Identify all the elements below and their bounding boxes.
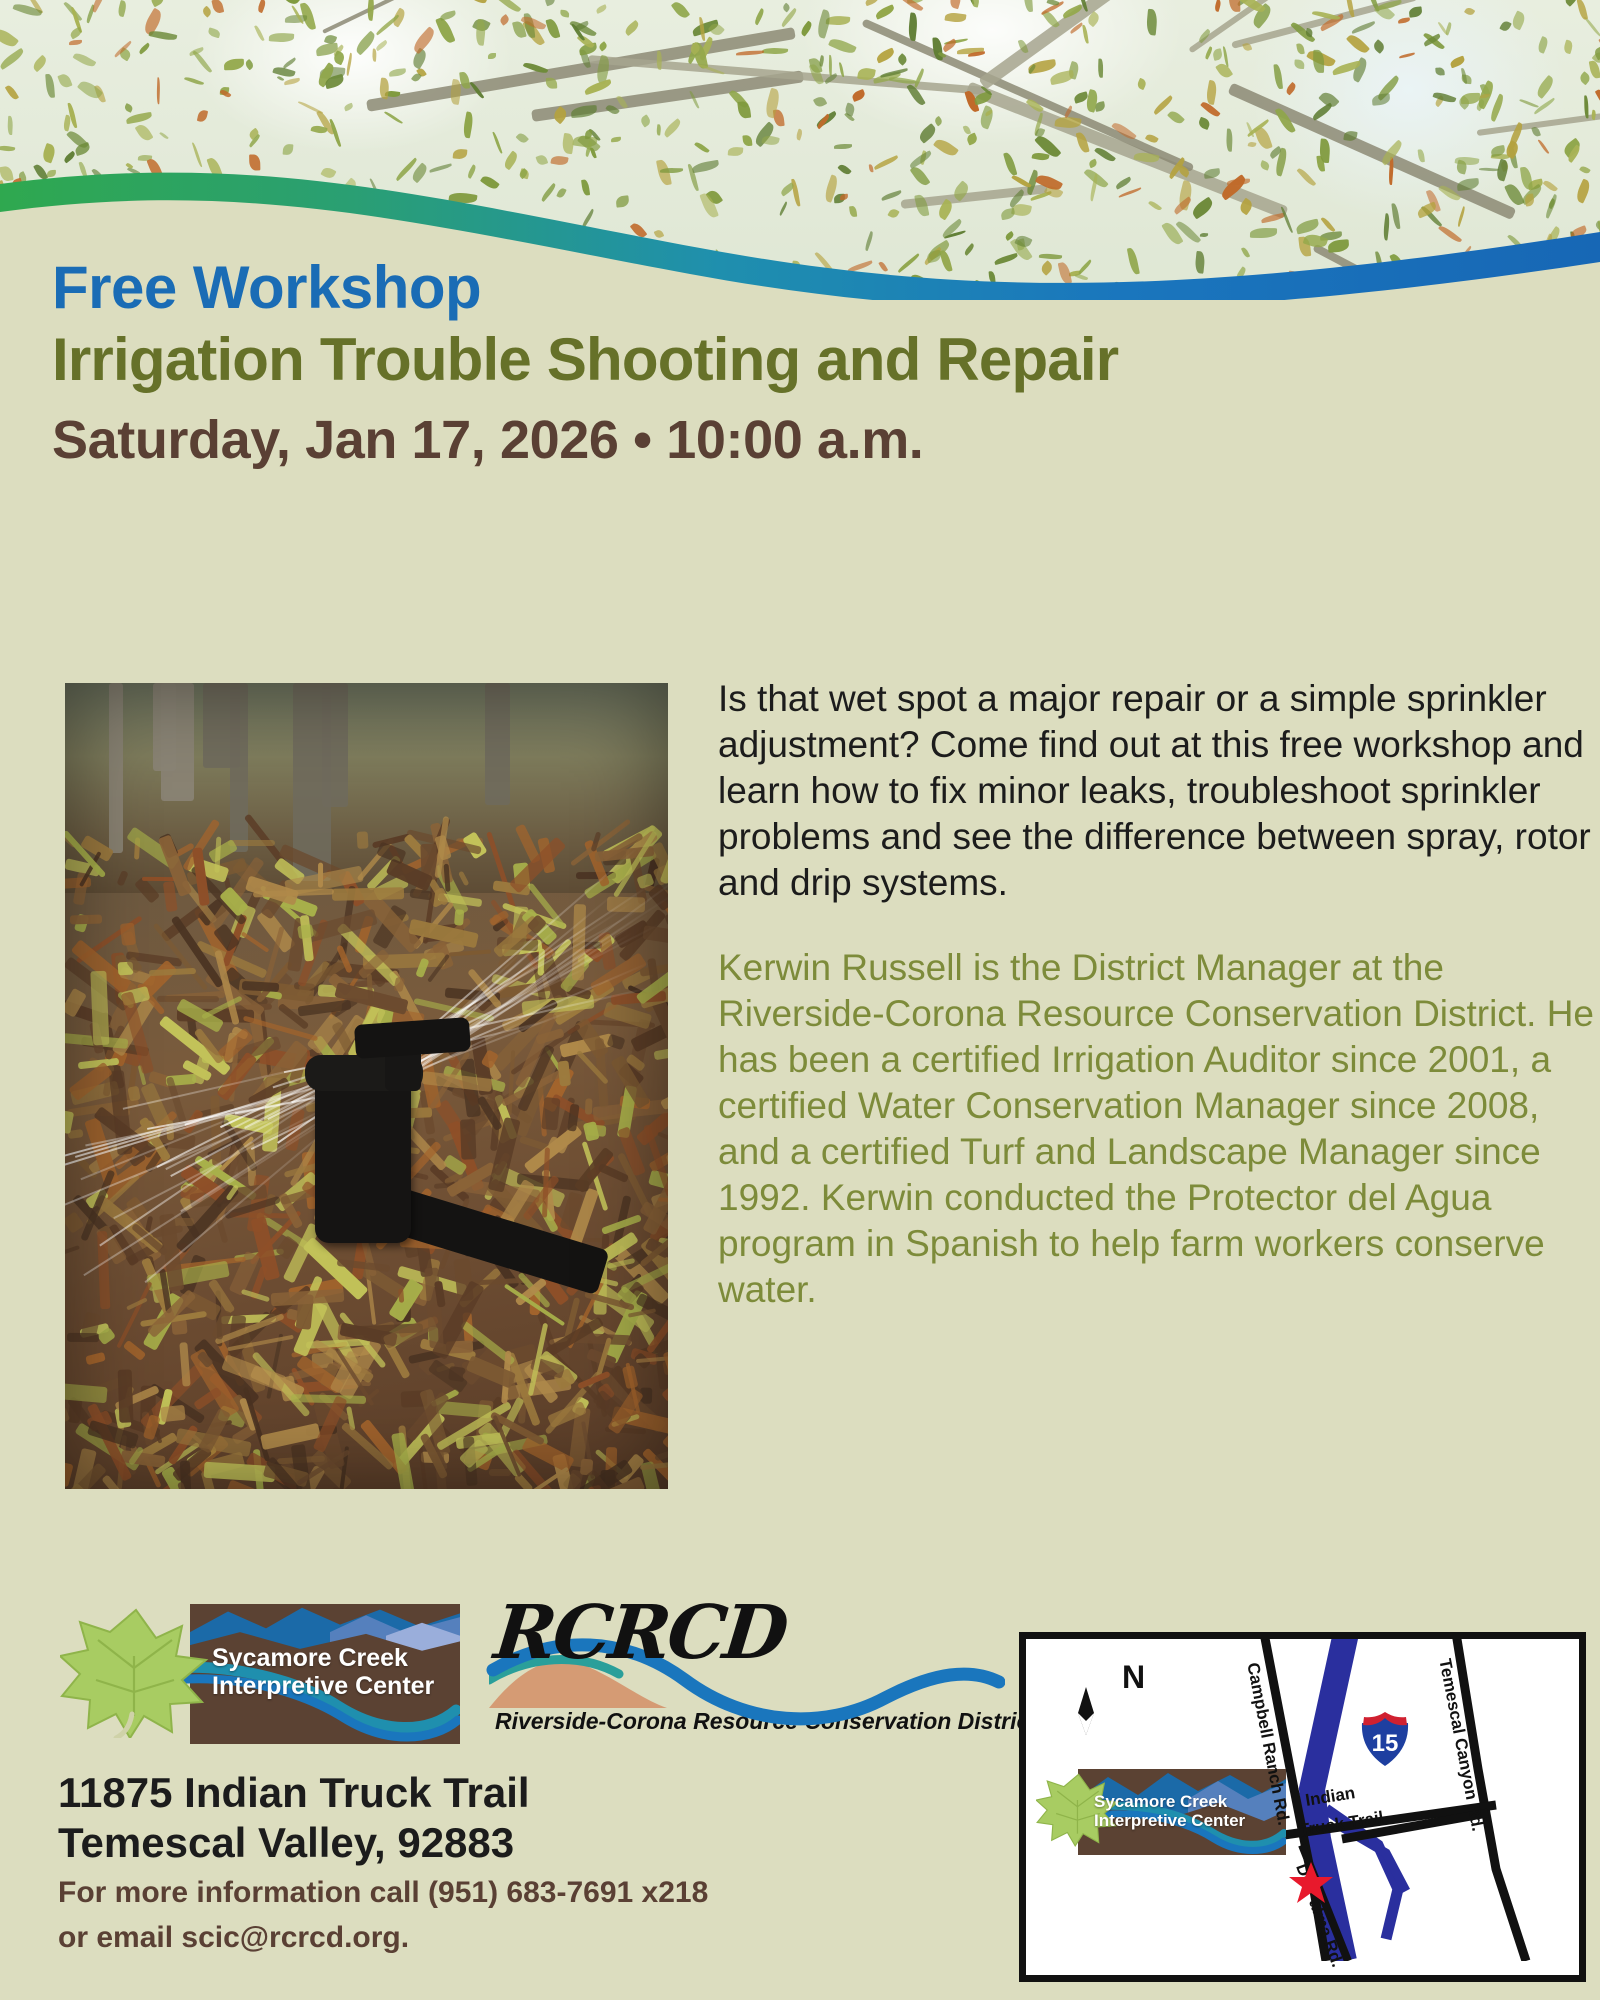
flyer-page: Free Workshop Irrigation Trouble Shootin… — [0, 0, 1600, 2000]
event-date: Saturday, Jan 17, 2026 • 10:00 a.m. — [52, 413, 923, 467]
sycamore-leaf-icon — [60, 1606, 210, 1738]
contact-phone-line: For more information call (951) 683-7691… — [58, 1873, 708, 1912]
map-site-logo: Sycamore Creek Interpretive Center — [1036, 1763, 1286, 1855]
rcrcd-logo: RCRCD Riverside-Corona Resource Conserva… — [485, 1596, 1005, 1748]
logo-line-1: Sycamore Creek — [212, 1644, 457, 1672]
address-street: 11875 Indian Truck Trail — [58, 1768, 708, 1818]
contact-email-line: or email scic@rcrcd.org. — [58, 1918, 708, 1957]
page-title: Irrigation Trouble Shooting and Repair — [52, 330, 1118, 390]
logo-line-2: Interpretive Center — [212, 1672, 457, 1700]
sprinkler-photo — [65, 683, 668, 1489]
map-logo-line-2: Interpretive Center — [1094, 1812, 1290, 1831]
body-column: Is that wet spot a major repair or a sim… — [718, 676, 1600, 1312]
logo-row: Sycamore Creek Interpretive Center RCRCD… — [60, 1598, 460, 1746]
address-block: 11875 Indian Truck Trail Temescal Valley… — [58, 1768, 708, 1957]
map-logo-line-1: Sycamore Creek — [1094, 1793, 1290, 1812]
address-city-zip: Temescal Valley, 92883 — [58, 1818, 708, 1868]
interstate-15-shield-icon: 15 — [1359, 1711, 1411, 1767]
eyebrow-heading: Free Workshop — [52, 258, 481, 318]
location-star-marker-icon — [1288, 1861, 1334, 1905]
photo-vignette — [65, 683, 668, 1489]
north-label: N — [1122, 1659, 1145, 1696]
map-logo-text: Sycamore Creek Interpretive Center — [1094, 1793, 1290, 1830]
sycamore-creek-logo-text: Sycamore Creek Interpretive Center — [212, 1644, 457, 1700]
location-map[interactable]: N Sycamore Cre — [1019, 1632, 1586, 1982]
sycamore-creek-logo: Sycamore Creek Interpretive Center — [60, 1598, 460, 1746]
svg-text:15: 15 — [1372, 1730, 1399, 1757]
rcrcd-wordmark: RCRCD — [490, 1590, 789, 1676]
map-canvas: N Sycamore Cre — [1026, 1639, 1579, 1975]
intro-paragraph: Is that wet spot a major repair or a sim… — [718, 676, 1600, 905]
presenter-bio-paragraph: Kerwin Russell is the District Manager a… — [718, 945, 1600, 1312]
